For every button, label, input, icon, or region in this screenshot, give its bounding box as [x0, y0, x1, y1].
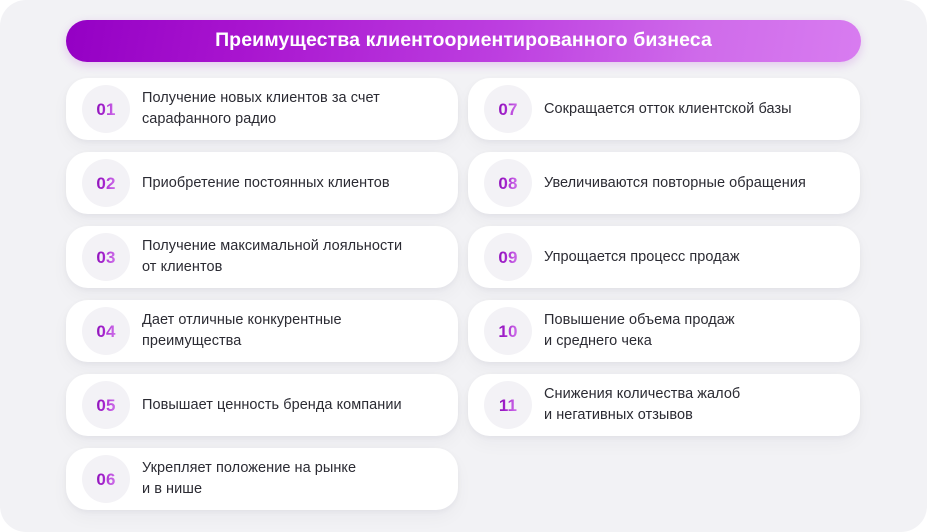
benefit-number-badge: 08: [484, 159, 532, 207]
benefit-number-badge: 03: [82, 233, 130, 281]
infographic-canvas: Преимущества клиентоориентированного биз…: [0, 0, 927, 532]
benefit-text: Получение максимальной лояльности от кли…: [142, 236, 442, 278]
benefit-text: Упрощается процесс продаж: [544, 247, 844, 268]
benefit-number-badge: 05: [82, 381, 130, 429]
benefit-number-badge: 04: [82, 307, 130, 355]
benefit-number-badge: 01: [82, 85, 130, 133]
benefit-text: Увеличиваются повторные обращения: [544, 173, 844, 194]
benefit-number: 03: [96, 249, 115, 266]
benefit-text: Повышает ценность бренда компании: [142, 395, 442, 416]
benefit-number: 11: [499, 397, 517, 414]
benefit-text: Снижения количества жалоб и негативных о…: [544, 384, 844, 426]
benefit-card: 05Повышает ценность бренда компании: [66, 374, 458, 436]
benefit-number-badge: 11: [484, 381, 532, 429]
benefit-card: 07Сокращается отток клиентской базы: [468, 78, 860, 140]
benefit-card: 02Приобретение постоянных клиентов: [66, 152, 458, 214]
benefit-number: 06: [96, 471, 115, 488]
benefit-text: Сокращается отток клиентской базы: [544, 99, 844, 120]
benefit-card: 11Снижения количества жалоб и негативных…: [468, 374, 860, 436]
benefit-text: Повышение объема продаж и среднего чека: [544, 310, 844, 352]
benefit-text: Получение новых клиентов за счет сарафан…: [142, 88, 442, 130]
benefit-card: 06Укрепляет положение на рынке и в нише: [66, 448, 458, 510]
benefit-number: 08: [498, 175, 517, 192]
benefit-number: 04: [96, 323, 115, 340]
benefits-column-right: 07Сокращается отток клиентской базы08Уве…: [468, 78, 860, 448]
benefit-number: 09: [498, 249, 517, 266]
benefit-number-badge: 07: [484, 85, 532, 133]
header-banner: Преимущества клиентоориентированного биз…: [66, 20, 861, 62]
benefit-card: 08Увеличиваются повторные обращения: [468, 152, 860, 214]
benefit-card: 10Повышение объема продаж и среднего чек…: [468, 300, 860, 362]
benefit-card: 09Упрощается процесс продаж: [468, 226, 860, 288]
benefit-number: 07: [498, 101, 517, 118]
benefit-number-badge: 10: [484, 307, 532, 355]
page-title: Преимущества клиентоориентированного биз…: [215, 31, 712, 51]
benefit-number: 05: [96, 397, 115, 414]
benefit-number: 02: [96, 175, 115, 192]
benefit-number-badge: 09: [484, 233, 532, 281]
benefit-number: 01: [96, 101, 115, 118]
benefit-card: 04Дает отличные конкурентные преимуществ…: [66, 300, 458, 362]
benefit-text: Укрепляет положение на рынке и в нише: [142, 458, 442, 500]
benefit-number: 10: [498, 323, 517, 340]
benefit-card: 03Получение максимальной лояльности от к…: [66, 226, 458, 288]
benefit-number-badge: 02: [82, 159, 130, 207]
benefit-number-badge: 06: [82, 455, 130, 503]
benefit-text: Приобретение постоянных клиентов: [142, 173, 442, 194]
benefit-card: 01Получение новых клиентов за счет сараф…: [66, 78, 458, 140]
benefits-column-left: 01Получение новых клиентов за счет сараф…: [66, 78, 458, 522]
benefit-text: Дает отличные конкурентные преимущества: [142, 310, 442, 352]
